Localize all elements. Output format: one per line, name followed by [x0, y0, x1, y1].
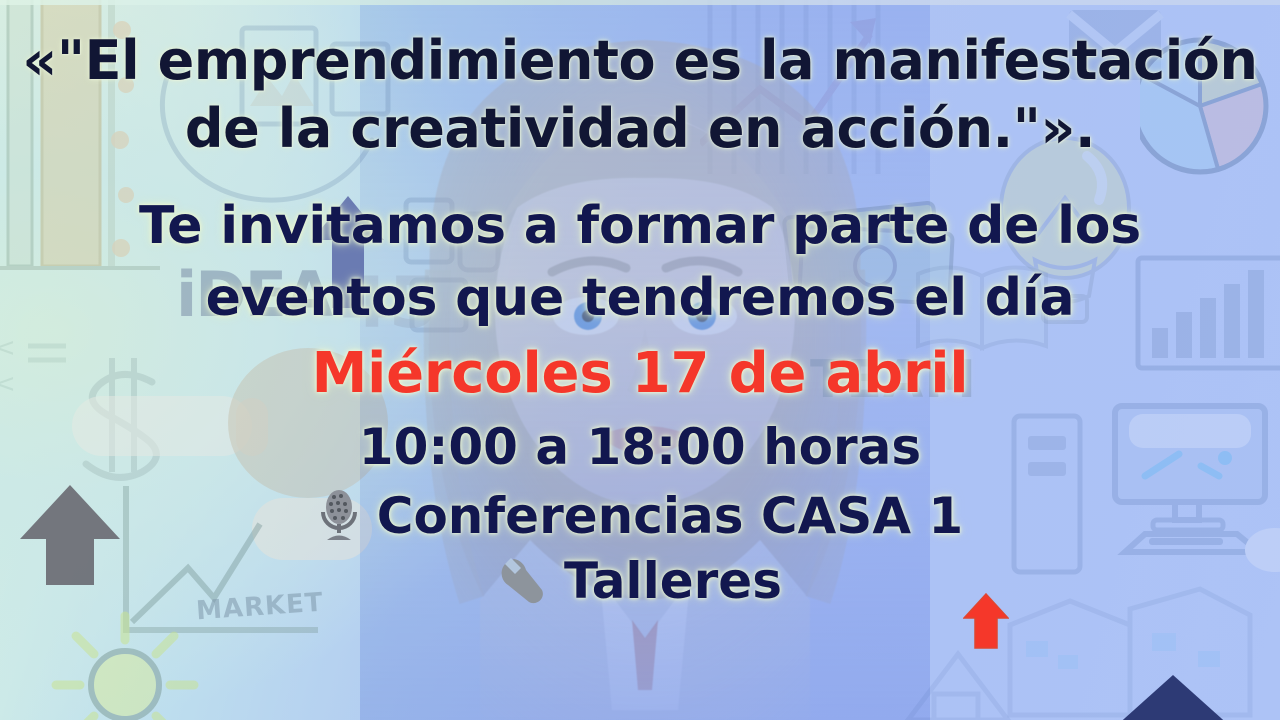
- venue-conferences-label: Conferencias CASA 1: [377, 491, 963, 541]
- event-poster: < < iDEA 45 MARKET TEAM: [0, 0, 1280, 720]
- venue-workshops-label: Talleres: [564, 556, 782, 606]
- studio-microphone-icon: [317, 490, 361, 542]
- venue-conferences-row: Conferencias CASA 1: [317, 490, 963, 542]
- poster-text-content: «"El emprendimiento es la manifestación …: [0, 0, 1280, 720]
- quote-line-1: «"El emprendimiento es la manifestación: [22, 34, 1257, 88]
- invitation-line-2: eventos que tendremos el día: [206, 272, 1075, 324]
- wrench-icon: [498, 557, 548, 605]
- event-date: Miércoles 17 de abril: [312, 346, 969, 402]
- invitation-line-1: Te invitamos a formar parte de los: [139, 200, 1141, 252]
- venue-workshops-row: Talleres: [498, 556, 782, 606]
- quote-line-2: de la creatividad en acción."».: [185, 102, 1095, 156]
- event-time: 10:00 a 18:00 horas: [359, 422, 921, 472]
